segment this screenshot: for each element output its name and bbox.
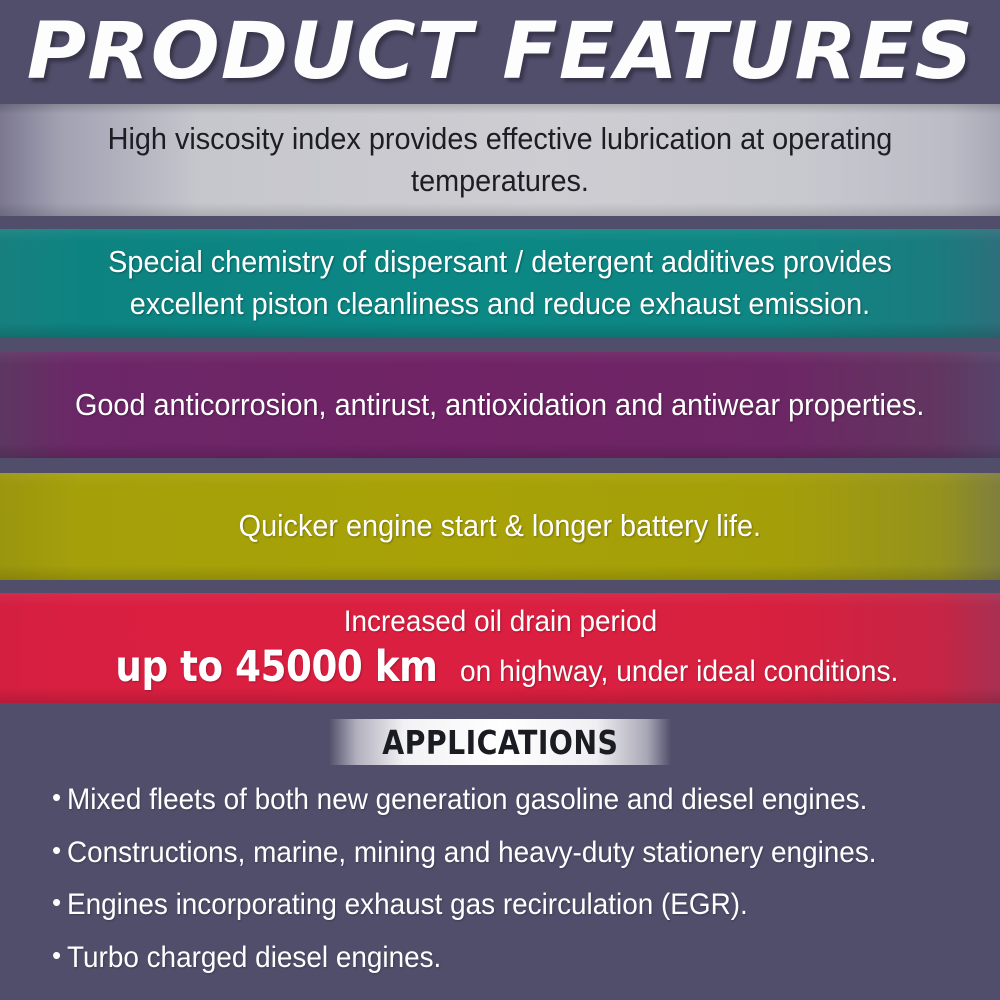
feature-band-viscosity: High viscosity index provides effective … <box>0 104 1000 216</box>
bullet-icon: • <box>52 782 61 814</box>
list-item: • Mixed fleets of both new generation ga… <box>52 782 954 819</box>
bullet-icon: • <box>52 887 61 919</box>
product-features-poster: PRODUCT FEATURES High viscosity index pr… <box>0 0 1000 1000</box>
feature-band-anticorrosion-text: Good anticorrosion, antirust, antioxidat… <box>75 384 924 426</box>
bullet-icon: • <box>52 940 61 972</box>
list-item: • Constructions, marine, mining and heav… <box>52 835 954 872</box>
applications-heading: APPLICATIONS <box>0 718 1000 766</box>
feature-band-viscosity-text: High viscosity index provides effective … <box>59 118 941 202</box>
drain-period-highlight: up to 45000 km <box>116 642 438 692</box>
list-item: • Engines incorporating exhaust gas reci… <box>52 887 954 924</box>
page-title: PRODUCT FEATURES <box>0 0 1000 104</box>
drain-period-detail: up to 45000 km on highway, under ideal c… <box>102 642 899 692</box>
list-item-label: Engines incorporating exhaust gas recirc… <box>67 887 748 924</box>
list-item-label: Mixed fleets of both new generation gaso… <box>67 782 867 819</box>
drain-period-headline: Increased oil drain period <box>343 605 656 638</box>
applications-heading-plate: APPLICATIONS <box>329 719 672 765</box>
list-item: • Turbo charged diesel engines. <box>52 940 954 977</box>
page-title-text: PRODUCT FEATURES <box>26 13 973 91</box>
applications-list: • Mixed fleets of both new generation ga… <box>0 782 1000 992</box>
feature-band-dispersant: Special chemistry of dispersant / deterg… <box>0 229 1000 337</box>
feature-band-dispersant-text: Special chemistry of dispersant / deterg… <box>59 241 941 325</box>
list-item-label: Turbo charged diesel engines. <box>67 940 441 977</box>
drain-period-conditions: on highway, under ideal conditions. <box>460 655 898 689</box>
feature-band-battery-text: Quicker engine start & longer battery li… <box>239 505 761 547</box>
feature-band-battery: Quicker engine start & longer battery li… <box>0 473 1000 580</box>
bullet-icon: • <box>52 835 61 867</box>
list-item-label: Constructions, marine, mining and heavy-… <box>67 835 877 872</box>
feature-band-drain-period: Increased oil drain period up to 45000 k… <box>0 593 1000 703</box>
feature-band-anticorrosion: Good anticorrosion, antirust, antioxidat… <box>0 352 1000 458</box>
applications-heading-text: APPLICATIONS <box>382 726 618 759</box>
